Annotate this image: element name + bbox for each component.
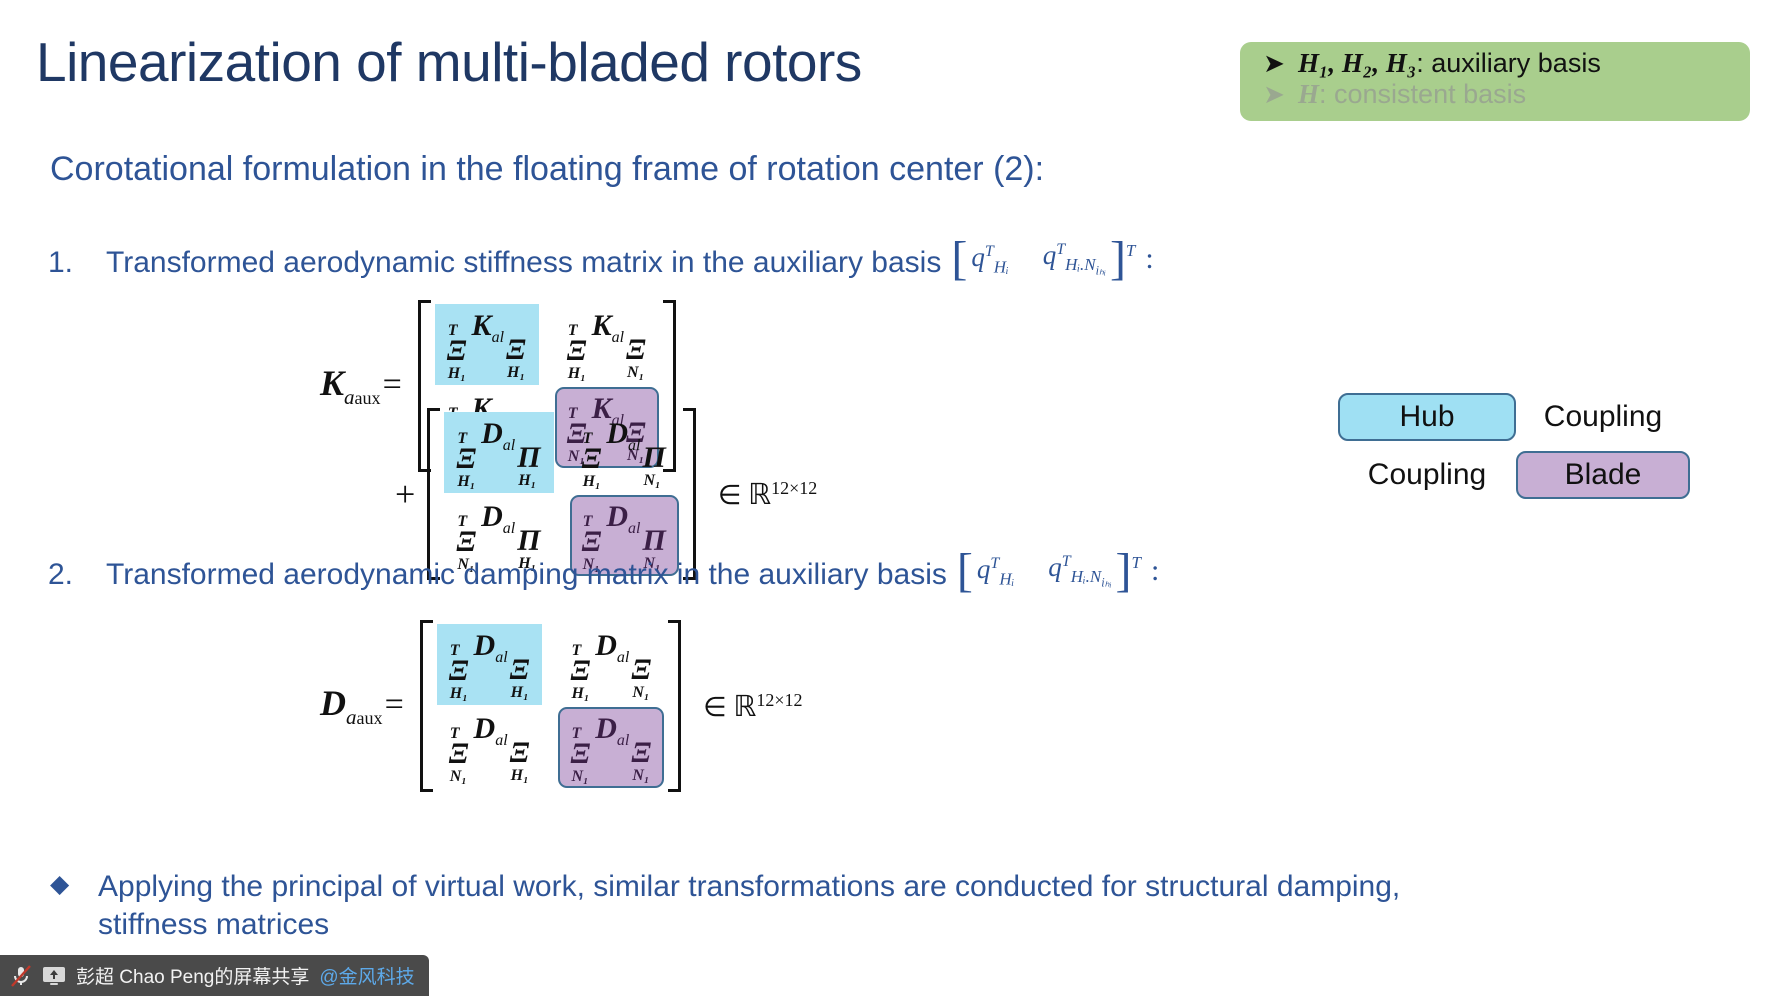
equals-sign: = [383, 366, 402, 403]
member-sign-d: ∈ [703, 692, 727, 722]
equation-k-aux-lhs: Kaaux= [320, 362, 412, 409]
member-sign-k: ∈ [718, 480, 742, 510]
list-item-2-inline-math: [ qTHᵢ qTHᵢ.Niₕᵢ ]T : [957, 552, 1159, 591]
xi-sub-9: H₁ [450, 686, 468, 700]
xi-left-11: TΞN₁ [449, 726, 469, 783]
page-title: Linearization of multi-bladed rotors [36, 30, 862, 94]
equals-sign-2: = [385, 686, 404, 723]
q-subscript-4: Hᵢ.Niₕᵢ [1071, 567, 1112, 586]
pi-right-5: ΠH₁ [517, 430, 540, 487]
bottom-bullet-text: Applying the principal of virtual work, … [98, 868, 1470, 945]
d-subscript-a: a [346, 705, 357, 729]
pi-right-6: ΠN₁ [642, 430, 665, 487]
core-sym-11: D [474, 712, 496, 745]
q-subscript-2-main: Hᵢ.N [1065, 255, 1096, 274]
core-op-9: Dal [474, 629, 508, 667]
xi-right-10: ΞN₁ [631, 642, 651, 699]
core-sym-2: K [592, 309, 612, 342]
core-sym-7: D [481, 500, 503, 533]
core-op-1: Kal [472, 309, 504, 347]
core-sub-6: al [628, 437, 640, 454]
microphone-muted-icon[interactable] [10, 964, 32, 988]
core-sub-8: al [628, 520, 640, 537]
bracket-close-superscript-2: T [1132, 553, 1141, 573]
q-base-2: q [1043, 240, 1057, 270]
callout-line-consistent: H: consistent basis [1298, 79, 1526, 110]
xi-sub-12: N₁ [571, 769, 588, 783]
arrow-bullet-icon: ➤ [1250, 48, 1298, 78]
matrix-cell-d-hub-blade: TΞH₁ Dal ΠN₁ [570, 412, 679, 493]
core-sub-11: al [495, 732, 507, 749]
q-subscript-2: Hᵢ.Niₕᵢ [1065, 255, 1106, 274]
xi-base-5: Ξ [456, 444, 476, 474]
callout-label-auxiliary: : auxiliary basis [1416, 48, 1601, 78]
xi-right-1: ΞH₁ [506, 322, 526, 379]
core-sub-5: al [503, 437, 515, 454]
xi-right-base-1: Ξ [506, 335, 526, 365]
k-subscript: aaux [344, 385, 381, 409]
xi-base-12: Ξ [570, 739, 590, 769]
matrix-cell-d-hub-hub: TΞH₁ Dal ΠH₁ [444, 412, 553, 493]
matrix-bracket-right-3 [668, 620, 681, 792]
q-base-3: q [977, 554, 991, 584]
k-subscript-a: a [344, 385, 355, 409]
bracket-open: [ [951, 242, 967, 277]
xi-right-base-12: Ξ [631, 738, 651, 768]
matrix-cell-daux-blade-blade: TΞN₁ Dal ΞN₁ [558, 707, 664, 788]
q-term-hub: qTHᵢ [967, 242, 1012, 277]
bracket-close-2: ] [1116, 554, 1132, 589]
xi-left-12: TΞN₁ [570, 726, 590, 783]
q-term-hub-2: qTHᵢ [973, 554, 1018, 589]
matrix-cell-k-hub-blade: TΞH₁ Kal ΞN₁ [555, 304, 659, 385]
matrix-cell-daux-blade-hub: TΞN₁ Dal ΞH₁ [437, 707, 543, 788]
bracket-close: ] [1110, 242, 1126, 277]
callout-row-consistent: ➤ H: consistent basis [1240, 79, 1750, 110]
q-base-4: q [1048, 552, 1062, 582]
q-subscript-2-nested: iₕᵢ [1096, 264, 1106, 278]
list-item-2-number: 2. [48, 558, 106, 592]
xi-sub-2: H₁ [568, 366, 586, 380]
callout-math-auxiliary: H₁, H₂, H₃ [1298, 48, 1416, 78]
real-set-k: ℝ [748, 479, 771, 511]
pi-right-sub-5: H₁ [518, 473, 536, 487]
basis-callout-box: ➤ H₁, H₂, H₃: auxiliary basis ➤ H: consi… [1240, 42, 1750, 121]
q-superscript-4: T [1062, 553, 1071, 570]
callout-label-consistent: : consistent basis [1319, 79, 1526, 109]
dimension-exponent-k: 12×12 [771, 478, 817, 498]
dimension-annotation-k: ∈ ℝ12×12 [718, 477, 817, 512]
matrix-cell-daux-hub-blade: TΞH₁ Dal ΞN₁ [558, 624, 664, 705]
bottom-bullet: ◆ Applying the principal of virtual work… [50, 868, 1470, 945]
xi-base-9: Ξ [449, 656, 469, 686]
equation-d-aux-lhs: Daaux= [320, 682, 414, 729]
xi-right-11: ΞH₁ [510, 725, 530, 782]
core-sym-8: D [606, 500, 628, 533]
pi-right-sub-6: N₁ [643, 473, 660, 487]
callout-row-auxiliary: ➤ H₁, H₂, H₃: auxiliary basis [1240, 48, 1750, 79]
diamond-bullet-icon: ◆ [50, 868, 98, 902]
xi-right-sub-2: N₁ [627, 365, 644, 379]
xi-right-base-10: Ξ [631, 655, 651, 685]
dimension-exponent-d: 12×12 [756, 690, 802, 710]
q-superscript-2: T [1056, 241, 1065, 258]
core-op-2: Kal [592, 309, 624, 347]
xi-right-2: ΞN₁ [626, 322, 646, 379]
xi-base-1: Ξ [447, 336, 467, 366]
xi-sub-1: H₁ [448, 366, 466, 380]
xi-left-10: TΞH₁ [570, 643, 590, 700]
dimension-annotation-d: ∈ ℝ12×12 [703, 689, 802, 724]
q-subscript-4-main: Hᵢ.N [1071, 567, 1102, 586]
core-sub-7: al [503, 520, 515, 537]
core-sym-1: K [472, 309, 492, 342]
real-set-d: ℝ [733, 691, 756, 723]
xi-left-5: TΞH₁ [456, 431, 476, 488]
xi-sub-11: N₁ [450, 769, 467, 783]
xi-left-9: TΞH₁ [449, 643, 469, 700]
q-term-blade: qTHᵢ.Niₕᵢ [1039, 240, 1110, 279]
core-op-11: Dal [474, 712, 508, 750]
list-item-1-trailing-colon: : [1145, 242, 1153, 276]
screen-share-icon[interactable] [42, 966, 66, 986]
core-op-5: Dal [481, 417, 515, 455]
xi-sub-6: H₁ [583, 474, 601, 488]
xi-right-base-11: Ξ [510, 738, 530, 768]
core-sub-12: al [617, 732, 629, 749]
list-item-1: 1. Transformed aerodynamic stiffness mat… [48, 238, 1154, 280]
slide-canvas: Linearization of multi-bladed rotors ➤ H… [0, 0, 1768, 996]
share-status-label: 彭超 Chao Peng的屏幕共享 [76, 962, 309, 989]
d-subscript-aux: aux [357, 708, 383, 728]
core-sub-2: al [612, 329, 624, 346]
xi-base-6: Ξ [582, 444, 602, 474]
xi-left-2: TΞH₁ [567, 323, 587, 380]
core-sub-9: al [495, 649, 507, 666]
matrix-bracket-left-3 [420, 620, 433, 792]
xi-base-10: Ξ [570, 656, 590, 686]
xi-left-1: TΞH₁ [447, 323, 467, 380]
callout-math-consistent: H [1298, 79, 1319, 109]
d-symbol: D [320, 683, 346, 723]
k-subscript-aux: aux [355, 388, 381, 408]
matrix-d-aux: TΞH₁ Dal ΞH₁ TΞH₁ Dal ΞN₁ TΞN₁ Dal ΞH₁ T… [420, 620, 681, 792]
legend-label-coupling-bottom: Coupling [1338, 458, 1516, 492]
q-term-blade-2: qTHᵢ.Niₕᵢ [1044, 552, 1115, 591]
q-subscript-3: Hᵢ [999, 569, 1014, 588]
core-sym-5: D [481, 417, 503, 450]
xi-right-base-9: Ξ [510, 655, 530, 685]
pi-right-base-5: Π [517, 443, 540, 473]
equation-d-aux: Daaux= TΞH₁ Dal ΞH₁ TΞH₁ Dal ΞN₁ TΞN₁ Da… [320, 620, 803, 792]
core-sym-6: D [606, 417, 628, 450]
core-op-12: Dal [595, 712, 629, 750]
list-item-1-text: Transformed aerodynamic stiffness matrix… [106, 246, 941, 280]
core-op-10: Dal [595, 629, 629, 667]
xi-right-sub-1: H₁ [507, 365, 525, 379]
arrow-bullet-icon-dim: ➤ [1250, 79, 1298, 109]
xi-sub-10: H₁ [571, 686, 589, 700]
q-base: q [971, 242, 985, 272]
bracket-open-2: [ [957, 554, 973, 589]
xi-base-2: Ξ [567, 336, 587, 366]
q-subscript: Hᵢ [994, 257, 1009, 276]
list-item-2: 2. Transformed aerodynamic damping matri… [48, 550, 1159, 592]
callout-line-auxiliary: H₁, H₂, H₃: auxiliary basis [1298, 48, 1601, 79]
core-sym-10: D [595, 629, 617, 662]
xi-right-9: ΞH₁ [510, 642, 530, 699]
list-item-1-number: 1. [48, 246, 106, 280]
slide-subtitle: Corotational formulation in the floating… [50, 150, 1044, 189]
core-op-7: Dal [481, 500, 515, 538]
xi-right-base-2: Ξ [626, 335, 646, 365]
screen-share-taskbar[interactable]: 彭超 Chao Peng的屏幕共享 @金风科技 [0, 955, 429, 996]
xi-sub-5: H₁ [457, 474, 475, 488]
xi-right-12: ΞN₁ [631, 725, 651, 782]
core-sub-10: al [617, 649, 629, 666]
bracket-close-superscript: T [1126, 241, 1135, 261]
legend-block-matrix: Hub Coupling Coupling Blade [1338, 388, 1690, 504]
xi-base-11: Ξ [449, 739, 469, 769]
k-symbol: K [320, 363, 344, 403]
legend-box-blade: Blade [1516, 451, 1690, 499]
core-op-8: Dal [606, 500, 640, 538]
core-sym-12: D [595, 712, 617, 745]
pi-right-base-6: Π [642, 443, 665, 473]
list-item-2-text: Transformed aerodynamic damping matrix i… [106, 558, 947, 592]
xi-right-sub-9: H₁ [511, 685, 529, 699]
legend-box-hub: Hub [1338, 393, 1516, 441]
share-handle-label: @金风科技 [319, 962, 414, 989]
xi-left-6: TΞH₁ [582, 431, 602, 488]
matrix-cell-k-hub-hub: TΞH₁ Kal ΞH₁ [435, 304, 539, 385]
core-op-6: Dal [606, 417, 640, 455]
xi-right-sub-12: N₁ [632, 768, 649, 782]
list-item-2-trailing-colon: : [1151, 554, 1159, 588]
matrix-grid-d: TΞH₁ Dal ΞH₁ TΞH₁ Dal ΞN₁ TΞN₁ Dal ΞH₁ T… [437, 620, 664, 792]
q-subscript-4-nested: iₕᵢ [1101, 576, 1111, 590]
xi-right-sub-11: H₁ [511, 768, 529, 782]
core-sym-9: D [474, 629, 496, 662]
core-sub-1: al [492, 329, 504, 346]
list-item-1-inline-math: [ qTHᵢ qTHᵢ.Niₕᵢ ]T : [951, 240, 1153, 279]
plus-sign: + [395, 473, 415, 515]
d-subscript: aaux [346, 705, 383, 729]
matrix-cell-daux-hub-hub: TΞH₁ Dal ΞH₁ [437, 624, 543, 705]
xi-right-sub-10: N₁ [632, 685, 649, 699]
legend-label-coupling-top: Coupling [1516, 400, 1690, 434]
